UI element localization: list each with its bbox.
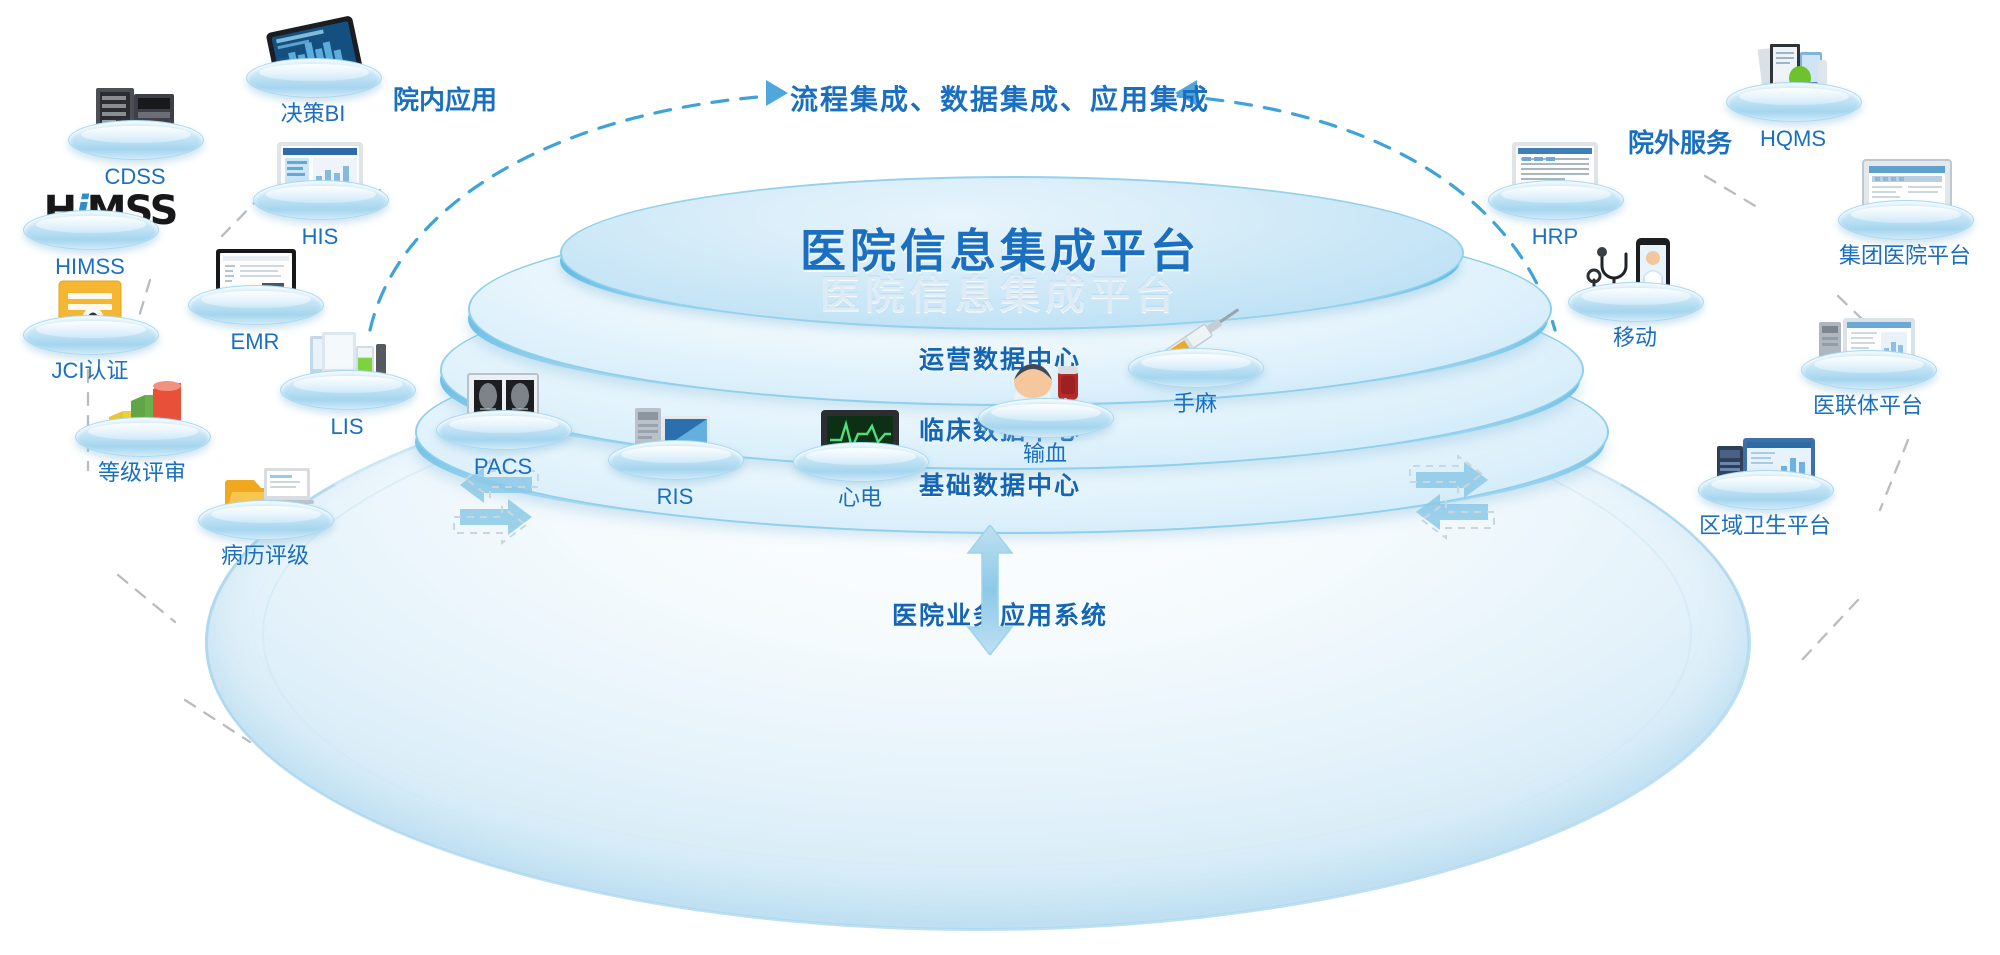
node-pedestal [188,285,324,325]
node-pedestal [68,120,204,160]
node-label: LIS [262,414,432,440]
node-pedestal [198,500,334,540]
node-label: RIS [590,484,760,510]
node-label: 集团医院平台 [1805,238,2000,270]
node-pedestal [23,210,159,250]
node-label: 医联体平台 [1773,388,1963,420]
node-label: 病历评级 [180,538,350,570]
node-pedestal [1838,200,1974,240]
node-pedestal [1801,350,1937,390]
node-pedestal [1488,180,1624,220]
arc-out-hqms [1705,176,1762,210]
node-label: 移动 [1550,320,1720,352]
node-label: HQMS [1708,126,1878,152]
node-pedestal [978,398,1114,438]
node-label: 输血 [960,436,1130,468]
node-label: 心电 [775,480,945,512]
node-pedestal [1568,282,1704,322]
node-pedestal [1128,348,1264,388]
node-label: 手麻 [1110,386,1280,418]
node-pedestal [280,370,416,410]
node-pedestal [793,442,929,482]
node-pedestal [1698,470,1834,510]
node-label: 区域卫生平台 [1665,508,1865,540]
node-pedestal [253,180,389,220]
bidirectional-sync-arrows-right-icon [1398,450,1508,540]
node-pedestal [1726,82,1862,122]
section-header-in-hospital: 院内应用 [393,80,497,117]
node-pedestal [246,58,382,98]
node-pedestal [23,315,159,355]
node-pedestal [608,440,744,480]
node-label: 决策BI [228,96,398,128]
node-pedestal [436,410,572,450]
diagram-canvas: 医院信息集成平台 医院信息集成平台 运营数据中心 临床数据中心 基础数据中心 医… [0,0,2000,955]
node-label: PACS [418,454,588,480]
business-layer-label: 医院业务应用系统 [0,596,2000,632]
node-pedestal [75,417,211,457]
